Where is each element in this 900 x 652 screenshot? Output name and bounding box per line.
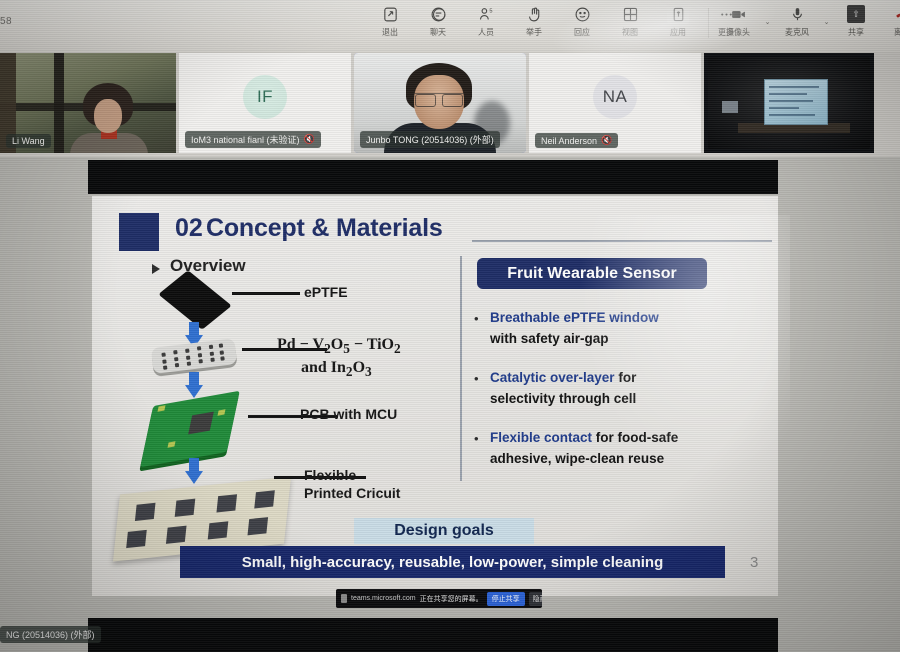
toolbar-button-microphone[interactable]: 麦克风 bbox=[774, 4, 820, 38]
panel-bullet-3-line2: adhesive, wipe-clean reuse bbox=[474, 449, 732, 470]
letterbox-band-top bbox=[88, 160, 778, 194]
bullet-dot-icon: • bbox=[474, 309, 479, 329]
microphone-icon bbox=[786, 4, 808, 24]
toolbar-divider bbox=[708, 8, 709, 38]
tile-person-face bbox=[94, 99, 122, 133]
participant-tile-room-camera[interactable] bbox=[704, 53, 874, 153]
panel-bullet-2-line2: selectivity through cell bbox=[474, 389, 732, 410]
toolbar-button-people[interactable]: 5 人员 bbox=[462, 4, 510, 38]
avatar: NA bbox=[593, 75, 637, 119]
participant-tile-iom3[interactable]: IF IoM3 national fianl (未验证) 🔇 bbox=[179, 53, 351, 153]
triangle-bullet-icon bbox=[152, 264, 160, 274]
panel-bullet-3-line1: Flexible contact for food-safe bbox=[474, 428, 732, 449]
toolbar-label-raise-hand: 举手 bbox=[526, 27, 542, 39]
toolbar-button-camera[interactable]: 摄像头 bbox=[715, 4, 761, 38]
bullet-dot-icon: • bbox=[474, 369, 479, 389]
callout-eptfe: ePTFE bbox=[304, 284, 348, 302]
share-info-icon bbox=[341, 594, 347, 603]
toolbar-button-apps[interactable]: 应用 bbox=[654, 4, 702, 38]
toolbar-label-microphone: 麦克风 bbox=[785, 27, 809, 39]
toolbar-center-group: 退出 聊天 5 人员 bbox=[366, 4, 750, 38]
participant-name-text: Junbo TONG (20514036) (外部) bbox=[366, 133, 494, 146]
title-accent-square bbox=[119, 213, 159, 251]
letterbox-band-bottom bbox=[88, 618, 778, 652]
photographed-screen: 58 退出 聊天 bbox=[0, 0, 900, 652]
microphone-chevron-down-icon[interactable]: ⌄ bbox=[820, 4, 833, 26]
flow-arrow-icon bbox=[185, 458, 203, 484]
chat-icon bbox=[427, 4, 449, 24]
toolbar-label-apps: 应用 bbox=[670, 27, 686, 39]
mic-muted-icon: 🔇 bbox=[304, 134, 315, 145]
room-object bbox=[722, 101, 738, 113]
share-screen-icon: ⇧ bbox=[845, 4, 867, 24]
toolbar-right-group: 摄像头 ⌄ 麦克风 ⌄ ⇧ 共享 bbox=[704, 4, 900, 38]
eptfe-membrane-image bbox=[158, 270, 231, 329]
panel-bullet-2: • Catalytic over-layer for selectivity t… bbox=[474, 368, 732, 410]
participant-name-chip: IoM3 national fianl (未验证) 🔇 bbox=[185, 131, 321, 148]
toolbar-button-exit[interactable]: 退出 bbox=[366, 4, 414, 38]
panel-bullet-3: • Flexible contact for food-safe adhesiv… bbox=[474, 428, 732, 470]
share-url-text: teams.microsoft.com bbox=[351, 595, 416, 602]
share-status-text: 正在共享您的屏幕。 bbox=[420, 594, 483, 604]
avatar: IF bbox=[243, 75, 287, 119]
title-rule bbox=[472, 240, 772, 242]
participant-name-text: Li Wang bbox=[12, 136, 45, 146]
participant-name-chip: Neil Anderson 🔇 bbox=[535, 133, 618, 148]
formula-line-2: and In2O3 bbox=[277, 358, 372, 381]
room-monitor bbox=[764, 79, 828, 125]
toolbar-label-chat: 聊天 bbox=[430, 27, 446, 39]
react-icon bbox=[571, 4, 593, 24]
page-title: Concept & Materials bbox=[206, 214, 443, 243]
raise-hand-icon bbox=[523, 4, 545, 24]
callout-fpc-line1: Flexible bbox=[304, 467, 356, 483]
panel-bullet-1: • Breathable ePTFE window with safety ai… bbox=[474, 308, 732, 350]
teams-meeting-toolbar: 58 退出 聊天 bbox=[0, 0, 900, 52]
callout-catalyst-formula: Pd − V2O5 − TiO2 and In2O3 bbox=[277, 335, 401, 381]
stop-sharing-button[interactable]: 停止共享 bbox=[487, 592, 525, 606]
screen-share-notification-bar: teams.microsoft.com 正在共享您的屏幕。 停止共享 隐藏 bbox=[336, 589, 542, 608]
toolbar-label-exit: 退出 bbox=[382, 27, 398, 39]
participant-tile-li-wang[interactable]: Li Wang bbox=[0, 53, 176, 153]
callout-pcb: PCB with MCU bbox=[300, 406, 397, 424]
tile-person-glasses bbox=[414, 93, 464, 105]
participant-name-chip: Li Wang bbox=[6, 134, 51, 148]
toolbar-button-share[interactable]: ⇧ 共享 bbox=[833, 4, 879, 38]
participant-name-text: IoM3 national fianl (未验证) bbox=[191, 133, 300, 146]
slide-number-tag: 02 bbox=[175, 214, 203, 243]
slide-page-number: 3 bbox=[750, 554, 758, 571]
participant-name-text: Neil Anderson bbox=[541, 136, 597, 146]
people-icon: 5 bbox=[475, 4, 497, 24]
camera-chevron-down-icon[interactable]: ⌄ bbox=[761, 4, 774, 26]
participant-name-chip: Junbo TONG (20514036) (外部) bbox=[360, 131, 500, 148]
participant-tile-neil-anderson[interactable]: NA Neil Anderson 🔇 bbox=[529, 53, 701, 153]
toolbar-button-raise-hand[interactable]: 举手 bbox=[510, 4, 558, 38]
design-goals-label: Design goals bbox=[354, 518, 534, 544]
formula-line-1: Pd − V2O5 − TiO2 bbox=[277, 336, 401, 353]
bullet-dot-icon: • bbox=[474, 429, 479, 449]
share-screen-glyph: ⇧ bbox=[847, 5, 865, 23]
catalyst-chip-image bbox=[151, 338, 238, 374]
toolbar-button-leave[interactable]: 离开 bbox=[879, 4, 900, 38]
toolbar-label-people: 人员 bbox=[478, 27, 494, 39]
svg-text:5: 5 bbox=[489, 8, 492, 14]
participant-tile-strip: Li Wang IF IoM3 national fianl (未验证) 🔇 J… bbox=[0, 52, 900, 157]
toolbar-label-camera: 摄像头 bbox=[726, 27, 750, 39]
hang-up-icon bbox=[891, 4, 900, 24]
shared-slide: 02 Concept & Materials Overview bbox=[92, 196, 778, 596]
hide-share-bar-button[interactable]: 隐藏 bbox=[529, 592, 542, 606]
clock-text: 58 bbox=[0, 16, 12, 27]
apps-icon bbox=[667, 4, 689, 24]
toolbar-button-chat[interactable]: 聊天 bbox=[414, 4, 462, 38]
toolbar-label-share: 共享 bbox=[848, 27, 864, 39]
design-goals-banner: Small, high-accuracy, reusable, low-powe… bbox=[180, 546, 725, 578]
pcb-with-mcu-image bbox=[140, 394, 252, 468]
panel-badge-fruit-wearable-sensor: Fruit Wearable Sensor bbox=[477, 258, 707, 289]
exit-icon bbox=[379, 4, 401, 24]
camera-icon bbox=[727, 4, 749, 24]
panel-bullet-2-line1: Catalytic over-layer for bbox=[474, 368, 732, 389]
section-label-overview: Overview bbox=[170, 256, 246, 276]
toolbar-label-view: 视图 bbox=[622, 27, 638, 39]
panel-bullet-1-line2: with safety air-gap bbox=[474, 329, 732, 350]
panel-bullet-1-line1: Breathable ePTFE window bbox=[474, 308, 732, 329]
toolbar-button-view[interactable]: 视图 bbox=[606, 4, 654, 38]
mic-muted-icon: 🔇 bbox=[601, 135, 612, 146]
room-camera-view bbox=[708, 57, 870, 149]
toolbar-button-react[interactable]: 回应 bbox=[558, 4, 606, 38]
participant-tile-junbo-tong[interactable]: Junbo TONG (20514036) (外部) bbox=[354, 53, 526, 153]
toolbar-label-react: 回应 bbox=[574, 27, 590, 39]
leader-line bbox=[232, 292, 300, 295]
bottom-status-dot bbox=[83, 632, 86, 635]
callout-flexible-printed-circuit: Flexible Printed Cricuit bbox=[304, 467, 400, 502]
callout-fpc-line2: Printed Cricuit bbox=[304, 485, 400, 501]
view-grid-icon bbox=[619, 4, 641, 24]
toolbar-label-leave: 离开 bbox=[894, 27, 900, 39]
